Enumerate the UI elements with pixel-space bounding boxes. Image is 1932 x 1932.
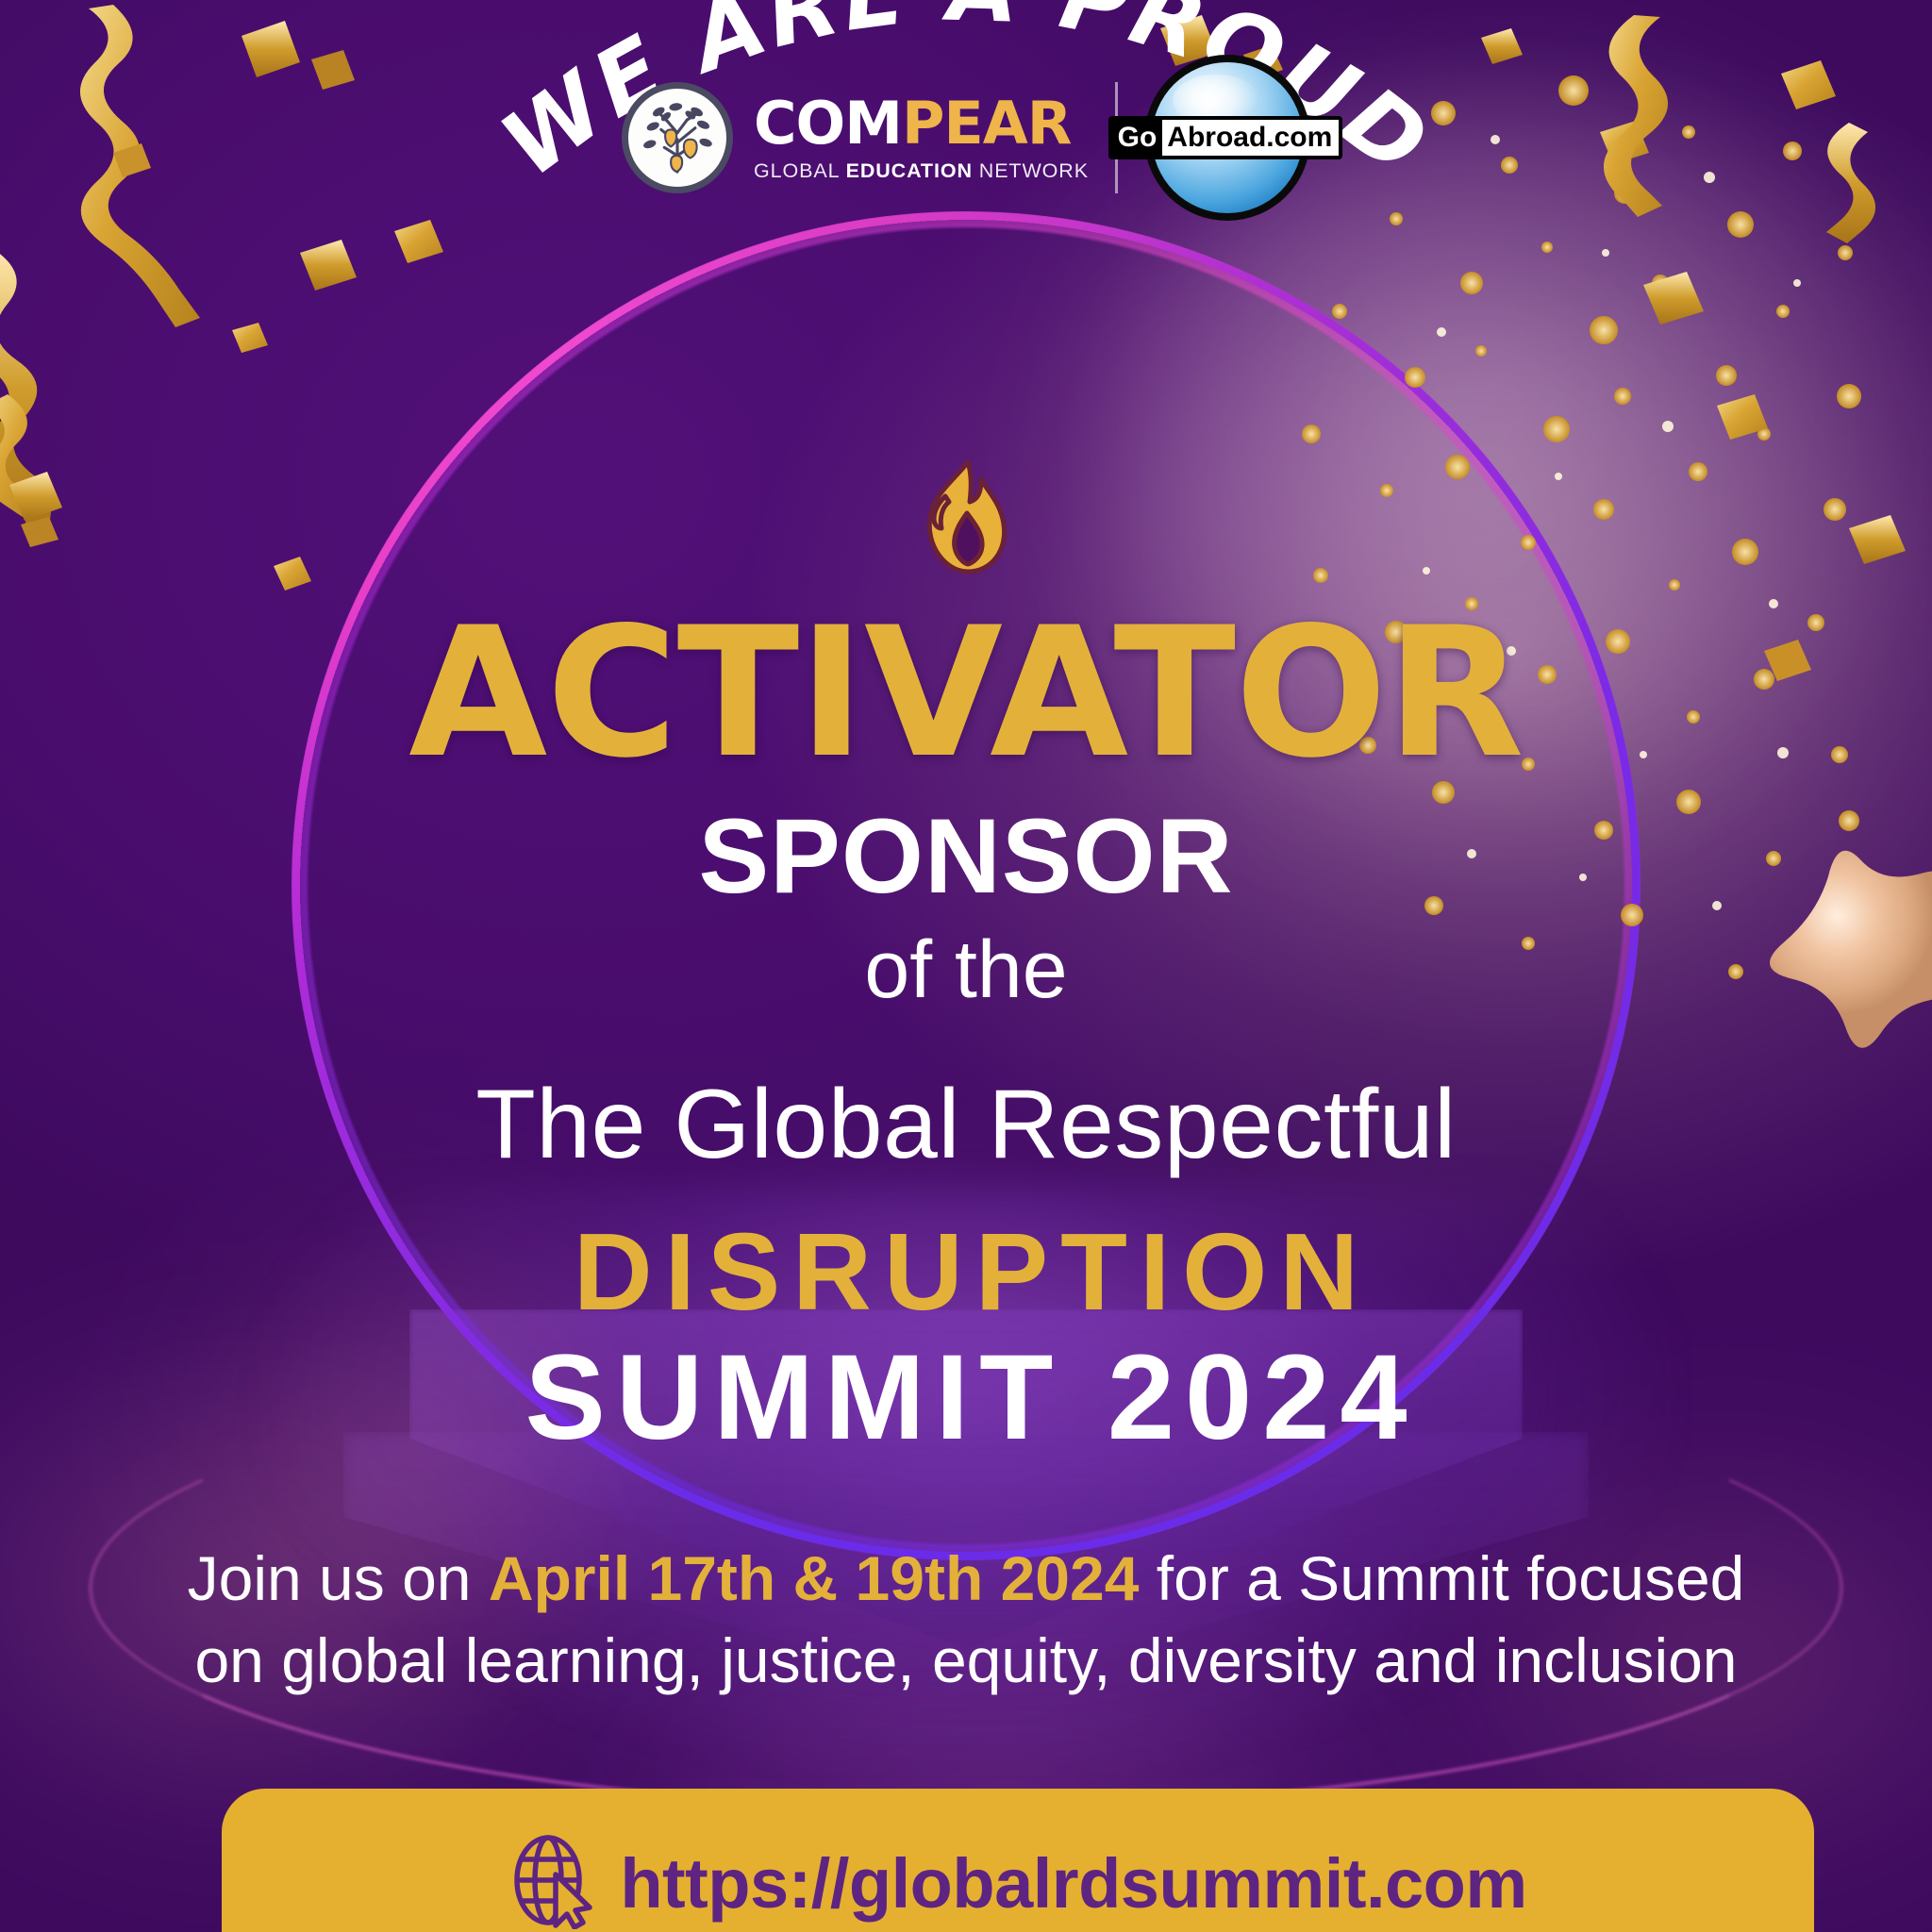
compear-logo[interactable]: COMPEAR GLOBAL EDUCATION NETWORK <box>622 82 1089 193</box>
header-logos: COMPEAR GLOBAL EDUCATION NETWORK Go Abro… <box>0 55 1932 221</box>
tagline-focus-text: for a Summit focused <box>1139 1543 1744 1613</box>
tagline-education: EDUCATION <box>846 159 973 182</box>
event-title-line-1: The Global Respectful <box>0 1075 1932 1174</box>
website-url-text[interactable]: https://globalrdsummit.com <box>620 1843 1526 1924</box>
tagline-network: NETWORK <box>973 159 1089 182</box>
goabroad-go: Go <box>1112 120 1163 156</box>
tagline-join-text: Join us on <box>188 1543 489 1613</box>
sponsor-tier-title: ACTIVATOR <box>0 604 1932 783</box>
goabroad-wordmark: Go Abroad.com <box>1108 116 1343 159</box>
tagline-line-2: on global learning, justice, equity, div… <box>194 1625 1737 1695</box>
sponsor-announcement-poster: COMPEAR GLOBAL EDUCATION NETWORK Go Abro… <box>0 0 1932 1932</box>
compear-word-row: COMPEAR <box>754 94 1089 153</box>
compear-word-com: COM <box>754 89 902 158</box>
goabroad-domain: Abroad.com <box>1162 120 1339 156</box>
globe-cursor-icon <box>508 1833 595 1932</box>
event-tagline: Join us on April 17th & 19th 2024 for a … <box>104 1538 1828 1702</box>
tagline-dates: April 17th & 19th 2024 <box>489 1543 1140 1613</box>
compear-tagline: GLOBAL EDUCATION NETWORK <box>754 161 1089 182</box>
pear-tree-icon <box>622 82 733 193</box>
compear-word-pear: PEAR <box>902 89 1072 158</box>
tagline-global: GLOBAL <box>754 159 846 182</box>
of-the-label: of the <box>0 929 1932 1010</box>
flame-icon <box>913 458 1019 575</box>
event-title-line-2: DISRUPTION <box>0 1217 1932 1326</box>
goabroad-logo[interactable]: Go Abroad.com <box>1144 55 1310 221</box>
event-title-line-3: SUMMIT 2024 <box>0 1338 1932 1458</box>
compear-wordmark: COMPEAR GLOBAL EDUCATION NETWORK <box>754 94 1089 182</box>
website-url-bar[interactable]: https://globalrdsummit.com <box>222 1789 1814 1932</box>
sponsor-label: SPONSOR <box>0 804 1932 909</box>
